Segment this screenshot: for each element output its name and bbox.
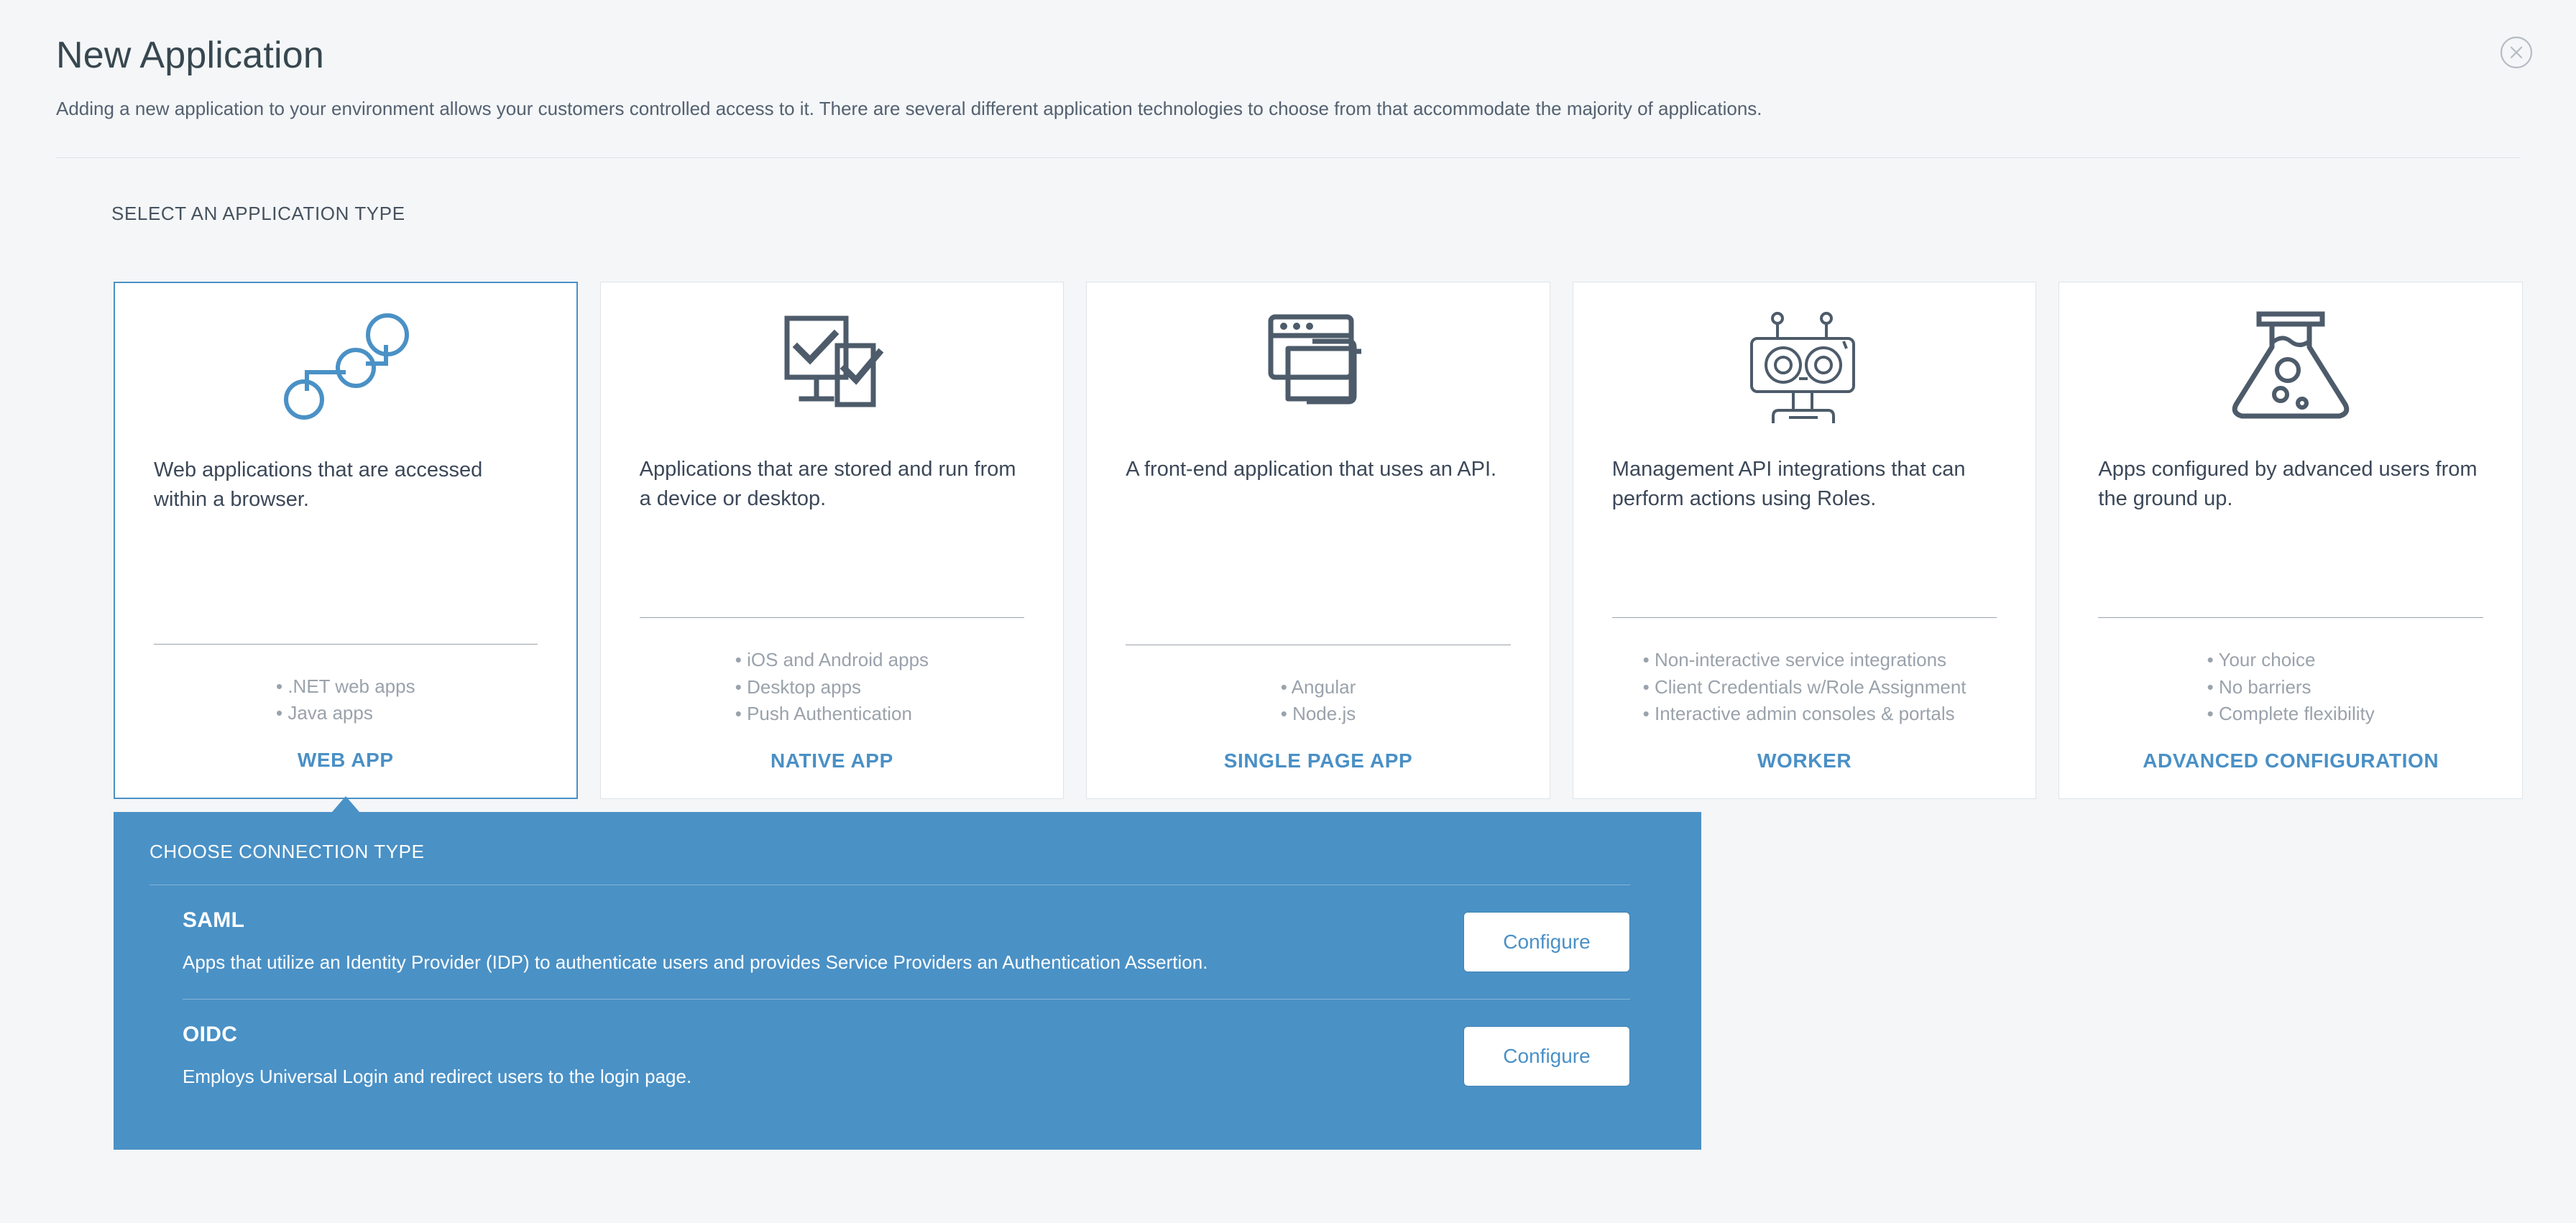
card-description: Apps configured by advanced users from t… [2098, 455, 2483, 541]
app-type-card-advanced-configuration[interactable]: Apps configured by advanced users from t… [2058, 282, 2523, 799]
list-item: Java apps [276, 700, 415, 727]
application-type-card-list: Web applications that are accessed withi… [114, 282, 2523, 799]
app-type-card-native-app[interactable]: Applications that are stored and run fro… [600, 282, 1064, 799]
connection-row-name: SAML [183, 908, 1435, 933]
card-cta-label[interactable]: WEB APP [154, 727, 538, 798]
card-description: Management API integrations that can per… [1612, 455, 1997, 541]
robot-icon [1612, 282, 1997, 452]
card-bullet-list: Angular Node.js [1281, 645, 1356, 728]
card-description: Applications that are stored and run fro… [640, 455, 1025, 541]
connection-row-description: Apps that utilize an Identity Provider (… [183, 950, 1435, 975]
connection-row-saml: SAML Apps that utilize an Identity Provi… [149, 885, 1665, 999]
card-bullet-list: Your choice No barriers Complete flexibi… [2207, 618, 2375, 728]
list-item: Client Credentials w/Role Assignment [1643, 674, 1966, 701]
configure-saml-button[interactable]: Configure [1463, 912, 1630, 972]
desktop-mobile-check-icon [640, 282, 1025, 452]
card-cta-label[interactable]: ADVANCED CONFIGURATION [2098, 728, 2483, 798]
list-item: .NET web apps [276, 673, 415, 701]
connection-row-oidc: OIDC Employs Universal Login and redirec… [149, 1000, 1665, 1113]
section-label: SELECT AN APPLICATION TYPE [111, 203, 2576, 225]
list-item: No barriers [2207, 674, 2375, 701]
app-type-card-worker[interactable]: Management API integrations that can per… [1573, 282, 2037, 799]
node-graph-icon [154, 283, 538, 453]
connection-panel-title: CHOOSE CONNECTION TYPE [149, 812, 1665, 863]
card-description: A front-end application that uses an API… [1126, 455, 1511, 541]
app-type-card-web-app[interactable]: Web applications that are accessed withi… [114, 282, 578, 799]
card-cta-label[interactable]: SINGLE PAGE APP [1126, 728, 1511, 798]
connection-row-description: Employs Universal Login and redirect use… [183, 1064, 1435, 1089]
connection-row-text: OIDC Employs Universal Login and redirec… [183, 1023, 1435, 1089]
browser-windows-icon [1126, 282, 1511, 452]
new-application-modal: New Application Adding a new application… [0, 0, 2576, 1223]
list-item: iOS and Android apps [735, 647, 929, 674]
list-item: Node.js [1281, 701, 1356, 728]
choose-connection-type-panel: CHOOSE CONNECTION TYPE SAML Apps that ut… [114, 812, 1701, 1150]
header-divider [56, 157, 2520, 158]
page-title: New Application [56, 34, 2520, 78]
list-item: Complete flexibility [2207, 701, 2375, 728]
list-item: Desktop apps [735, 674, 929, 701]
page-subtitle: Adding a new application to your environ… [56, 96, 2520, 121]
list-item: Angular [1281, 674, 1356, 701]
close-circle-icon[interactable] [2500, 36, 2533, 69]
flask-icon [2098, 282, 2483, 452]
connection-row-text: SAML Apps that utilize an Identity Provi… [183, 908, 1435, 975]
list-item: Your choice [2207, 647, 2375, 674]
modal-header: New Application Adding a new application… [0, 0, 2576, 121]
list-item: Non-interactive service integrations [1643, 647, 1966, 674]
card-description: Web applications that are accessed withi… [154, 456, 538, 542]
card-bullet-list: iOS and Android apps Desktop apps Push A… [735, 618, 929, 728]
connection-row-name: OIDC [183, 1023, 1435, 1047]
card-bullet-list: .NET web apps Java apps [276, 645, 415, 727]
list-item: Interactive admin consoles & portals [1643, 701, 1966, 728]
list-item: Push Authentication [735, 701, 929, 728]
configure-oidc-button[interactable]: Configure [1463, 1026, 1630, 1086]
app-type-card-single-page-app[interactable]: A front-end application that uses an API… [1086, 282, 1550, 799]
card-cta-label[interactable]: WORKER [1612, 728, 1997, 798]
card-cta-label[interactable]: NATIVE APP [640, 728, 1025, 798]
card-bullet-list: Non-interactive service integrations Cli… [1643, 618, 1966, 728]
